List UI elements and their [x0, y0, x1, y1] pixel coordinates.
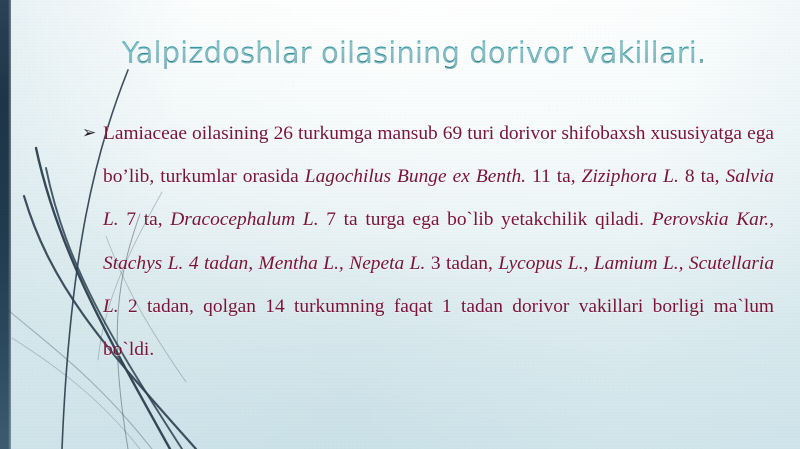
bullet-run-7-genus: Dracocephalum L.: [170, 209, 318, 230]
bullet-run-8: 7 ta turga ega bo`lib yetakchilik qiladi…: [319, 209, 652, 230]
bullet-run-4: 8 ta,: [679, 166, 726, 187]
bullet-run-6: 7 ta,: [119, 209, 171, 230]
bullet-paragraph: ➢Lamiaceae oilasining 26 turkumga mansub…: [82, 112, 774, 371]
bullet-run-10: 3 tadan,: [425, 253, 498, 274]
arrow-bullet-icon: ➢: [82, 112, 96, 155]
slide-body: ➢Lamiaceae oilasining 26 turkumga mansub…: [82, 112, 774, 371]
bullet-run-3-genus: Ziziphora L.: [582, 166, 679, 187]
presentation-slide: Yalpizdoshlar oilasining dorivor vakilla…: [0, 0, 800, 449]
left-edge-accent-bar: [0, 0, 11, 449]
bullet-run-2: 11 ta,: [526, 166, 582, 187]
slide-title: Yalpizdoshlar oilasining dorivor vakilla…: [64, 36, 764, 70]
bullet-run-12: 2 tadan, qolgan 14 turkumning faqat 1 ta…: [103, 296, 774, 360]
bullet-run-1-genus: Lagochilus Bunge ex Benth.: [305, 166, 526, 187]
